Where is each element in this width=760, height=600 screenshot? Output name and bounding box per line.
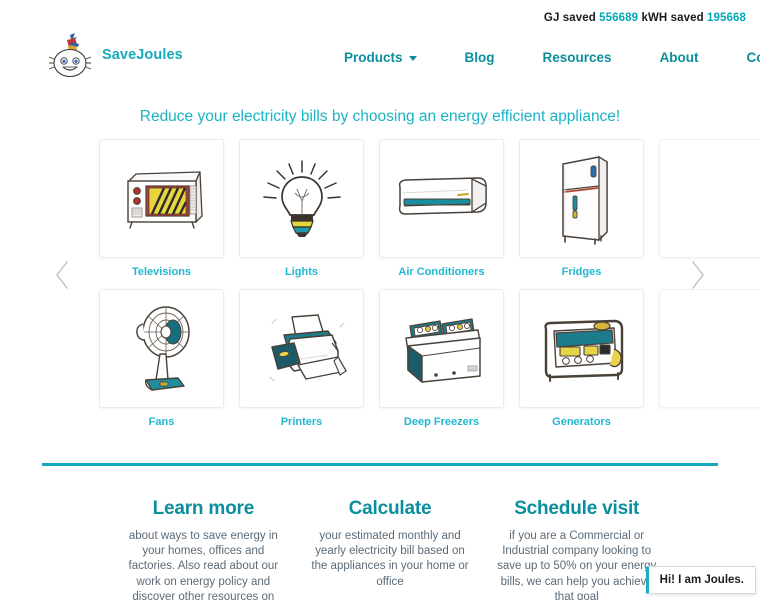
column-title-calculate[interactable]: Calculate xyxy=(309,498,472,520)
deep-freezer-icon xyxy=(392,308,492,390)
card-image-fridges[interactable] xyxy=(519,139,644,258)
gj-saved-label: GJ saved xyxy=(544,12,596,24)
carousel-rows: Televisions xyxy=(99,139,669,439)
brand-logo-link[interactable]: SaveJoules xyxy=(48,32,183,78)
printer-icon xyxy=(254,309,350,389)
kwh-saved-value: 195668 xyxy=(707,12,746,24)
info-columns: Learn more about ways to save energy in … xyxy=(110,498,670,600)
air-conditioner-icon xyxy=(392,173,492,225)
chat-widget-bubble[interactable]: Hi! I am Joules. xyxy=(646,566,756,594)
card-image-fans[interactable] xyxy=(99,289,224,408)
card-label-air-conditioners[interactable]: Air Conditioners xyxy=(379,266,504,278)
card-label-fridges[interactable]: Fridges xyxy=(519,266,644,278)
carousel-row-2: Fans xyxy=(99,289,669,428)
column-body-schedule-visit: if you are a Commercial or Industrial co… xyxy=(495,529,658,600)
fan-icon xyxy=(126,302,198,396)
main-navigation: Products Blog Resources About Contact xyxy=(320,46,760,69)
category-card-printers[interactable]: Printers xyxy=(239,289,364,428)
appliance-carousel: Televisions xyxy=(48,136,712,436)
card-image-generators[interactable] xyxy=(519,289,644,408)
category-card-partial-next-2[interactable] xyxy=(659,289,760,408)
column-title-learn-more[interactable]: Learn more xyxy=(122,498,285,520)
nav-label-products: Products xyxy=(344,50,403,65)
card-image-printers[interactable] xyxy=(239,289,364,408)
page-root: GJ saved 556689 kWH saved 195668 xyxy=(0,0,760,600)
category-card-fridges[interactable]: Fridges xyxy=(519,139,644,278)
generator-icon xyxy=(534,313,630,385)
card-label-televisions[interactable]: Televisions xyxy=(99,266,224,278)
gj-saved-value: 556689 xyxy=(599,12,638,24)
fridge-icon xyxy=(551,152,613,246)
site-header: SaveJoules Products Blog Resources About… xyxy=(0,30,760,82)
joules-mascot-icon xyxy=(48,32,92,78)
page-headline: Reduce your electricity bills by choosin… xyxy=(0,108,760,126)
nav-item-products[interactable]: Products xyxy=(320,46,441,69)
carousel-row-1: Televisions xyxy=(99,139,669,278)
card-label-generators[interactable]: Generators xyxy=(519,416,644,428)
brand-name: SaveJoules xyxy=(102,47,183,63)
info-column-learn-more: Learn more about ways to save energy in … xyxy=(110,498,297,600)
info-column-schedule-visit: Schedule visit if you are a Commercial o… xyxy=(483,498,670,600)
category-card-generators[interactable]: Generators xyxy=(519,289,644,428)
nav-item-about[interactable]: About xyxy=(636,46,723,69)
lightbulb-icon xyxy=(259,159,345,239)
category-card-deep-freezers[interactable]: Deep Freezers xyxy=(379,289,504,428)
section-divider xyxy=(42,463,718,466)
column-body-calculate: your estimated monthly and yearly electr… xyxy=(309,529,472,590)
card-label-deep-freezers[interactable]: Deep Freezers xyxy=(379,416,504,428)
column-title-schedule-visit[interactable]: Schedule visit xyxy=(495,498,658,520)
chevron-left-icon[interactable] xyxy=(52,258,74,292)
category-card-fans[interactable]: Fans xyxy=(99,289,224,428)
card-label-printers[interactable]: Printers xyxy=(239,416,364,428)
card-image-air-conditioners[interactable] xyxy=(379,139,504,258)
category-card-partial-next-1[interactable] xyxy=(659,139,760,258)
info-column-calculate: Calculate your estimated monthly and yea… xyxy=(297,498,484,600)
column-body-learn-more: about ways to save energy in your homes,… xyxy=(122,529,285,600)
card-label-lights[interactable]: Lights xyxy=(239,266,364,278)
card-image-deep-freezers[interactable] xyxy=(379,289,504,408)
card-image-televisions[interactable] xyxy=(99,139,224,258)
nav-item-resources[interactable]: Resources xyxy=(519,46,636,69)
category-card-air-conditioners[interactable]: Air Conditioners xyxy=(379,139,504,278)
card-image-lights[interactable] xyxy=(239,139,364,258)
category-card-televisions[interactable]: Televisions xyxy=(99,139,224,278)
card-label-fans[interactable]: Fans xyxy=(99,416,224,428)
energy-savings-stats: GJ saved 556689 kWH saved 195668 xyxy=(544,12,746,24)
chevron-down-icon xyxy=(409,56,417,61)
kwh-saved-label: kWH saved xyxy=(641,12,703,24)
nav-item-blog[interactable]: Blog xyxy=(441,46,519,69)
television-icon xyxy=(116,164,208,234)
chevron-right-icon[interactable] xyxy=(686,258,708,292)
category-card-lights[interactable]: Lights xyxy=(239,139,364,278)
nav-item-contact[interactable]: Contact xyxy=(723,46,760,69)
